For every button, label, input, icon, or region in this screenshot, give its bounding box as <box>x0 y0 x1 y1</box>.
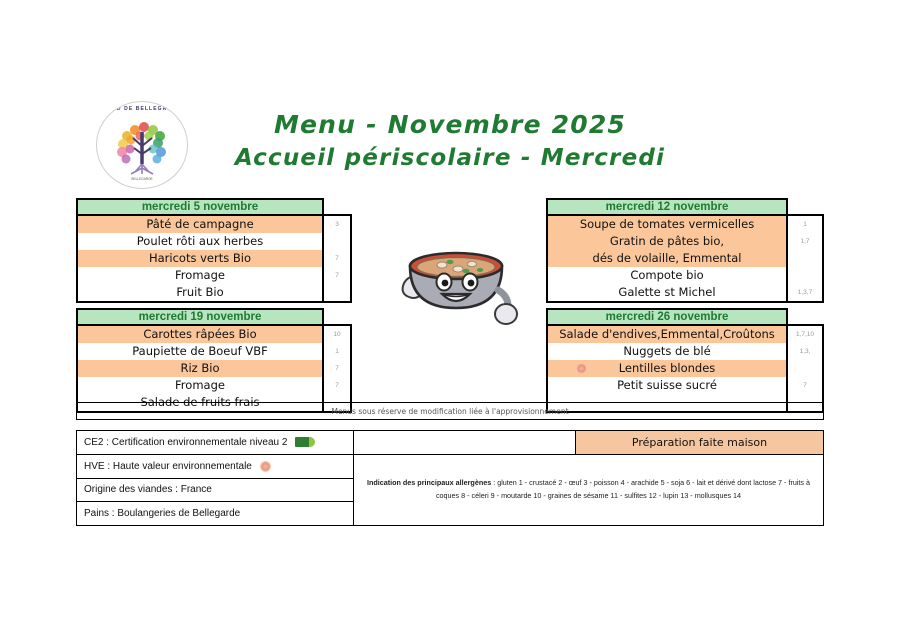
legend-row-hve: HVE : Haute valeur environnementale <box>77 455 353 479</box>
dish-row: Nuggets de blé <box>548 343 786 360</box>
logo-arc-text: DIEID DE BELLEGARDE <box>97 106 187 112</box>
dish-name: Soupe de tomates vermicelles <box>580 217 754 231</box>
allergen-value <box>324 233 350 250</box>
dish-row: Fromage <box>78 377 322 394</box>
allergen-value: 1,7 <box>788 233 822 250</box>
menu-table-1: mercredi 5 novembrePâté de campagnePoule… <box>76 198 352 303</box>
allergen-value <box>788 360 822 377</box>
homemade-badge: Préparation faite maison <box>576 431 823 454</box>
dish-name: Paupiette de Boeuf VBF <box>132 344 267 358</box>
allergen-value: 7 <box>788 377 822 394</box>
dish-row: Compote bio <box>548 267 786 284</box>
dish-name: Compote bio <box>630 268 703 282</box>
dish-row: dés de volaille, Emmental <box>548 250 786 267</box>
dish-row: Galette st Michel <box>548 284 786 301</box>
allergen-column: 1,7,101,3,7 <box>788 324 824 413</box>
allergen-value <box>788 250 822 267</box>
allergen-text: : gluten 1 - crustacé 2 - œuf 3 - poisso… <box>436 478 810 500</box>
menu-table-3: mercredi 19 novembreCarottes râpées BioP… <box>76 308 352 413</box>
allergen-value: 7 <box>324 360 350 377</box>
homemade-label: Préparation faite maison <box>632 436 767 449</box>
dish-row: Carottes râpées Bio <box>78 326 322 343</box>
dish-name: Nuggets de blé <box>623 344 710 358</box>
hve-certification-icon <box>576 363 587 374</box>
legend-blank-cell <box>354 431 576 454</box>
legend-right-column: Préparation faite maison Indication des … <box>354 431 823 525</box>
logo-sub-text: BELLEGARDE <box>97 177 187 181</box>
dish-row: Salade d'endives,Emmental,Croûtons <box>548 326 786 343</box>
dish-row: Gratin de pâtes bio, <box>548 233 786 250</box>
hve-certification-icon <box>260 461 271 472</box>
dish-name: Fromage <box>175 268 225 282</box>
menu-page: DIEID DE BELLEGARDE <box>0 0 900 636</box>
dish-name: Haricots verts Bio <box>149 251 251 265</box>
legend-ce2-text: CE2 : Certification environnementale niv… <box>84 437 287 448</box>
school-logo: DIEID DE BELLEGARDE <box>96 101 188 189</box>
menu-day-header: mercredi 5 novembre <box>78 200 322 216</box>
dish-name: Galette st Michel <box>618 285 715 299</box>
dish-name: dés de volaille, Emmental <box>593 251 742 265</box>
legend-row-ce2: CE2 : Certification environnementale niv… <box>77 431 353 455</box>
allergen-value: 10 <box>324 326 350 343</box>
soup-bowl-mascot-icon <box>392 214 520 336</box>
disclaimer-strip: Menus sous réserve de modification liée … <box>76 402 824 420</box>
allergen-value: 3 <box>324 216 350 233</box>
allergen-value <box>788 267 822 284</box>
legend-meat-origin-text: Origine des viandes : France <box>84 484 212 495</box>
allergen-value: 1,7,10 <box>788 326 822 343</box>
dish-row: Petit suisse sucré <box>548 377 786 394</box>
legend-bread-text: Pains : Boulangeries de Bellegarde <box>84 508 240 519</box>
dish-row: Soupe de tomates vermicelles <box>548 216 786 233</box>
menu-main-column: mercredi 19 novembreCarottes râpées BioP… <box>76 308 324 413</box>
dish-name: Carottes râpées Bio <box>143 327 256 341</box>
menu-table-4: mercredi 26 novembreSalade d'endives,Emm… <box>546 308 824 413</box>
menu-day-header: mercredi 26 novembre <box>548 310 786 326</box>
dish-name: Lentilles blondes <box>619 361 716 375</box>
dish-list: Pâté de campagnePoulet rôti aux herbesHa… <box>78 216 322 301</box>
logo-circle: DIEID DE BELLEGARDE <box>96 101 188 189</box>
allergen-value: 1 <box>324 343 350 360</box>
dish-name: Pâté de campagne <box>146 217 253 231</box>
title-line-2: Accueil périscolaire - Mercredi <box>200 142 700 174</box>
menu-main-column: mercredi 5 novembrePâté de campagnePoule… <box>76 198 324 303</box>
menu-main-column: mercredi 26 novembreSalade d'endives,Emm… <box>546 308 788 413</box>
tree-icon <box>97 102 188 189</box>
menu-main-column: mercredi 12 novembreSoupe de tomates ver… <box>546 198 788 303</box>
dish-row: Fromage <box>78 267 322 284</box>
page-title: Menu - Novembre 2025 Accueil périscolair… <box>200 108 700 174</box>
dish-row: Riz Bio <box>78 360 322 377</box>
disclaimer-text: Menus sous réserve de modification liée … <box>331 407 568 416</box>
allergen-value: 7 <box>324 377 350 394</box>
dish-row: Haricots verts Bio <box>78 250 322 267</box>
dish-row: Poulet rôti aux herbes <box>78 233 322 250</box>
allergen-value: 1,3,7 <box>788 284 822 301</box>
menu-day-header: mercredi 12 novembre <box>548 200 786 216</box>
allergen-info: Indication des principaux allergènes : g… <box>354 455 823 525</box>
dish-name: Salade d'endives,Emmental,Croûtons <box>559 327 775 341</box>
legend-row-bread: Pains : Boulangeries de Bellegarde <box>77 502 353 525</box>
dish-name: Poulet rôti aux herbes <box>137 234 263 248</box>
dish-name: Fromage <box>175 378 225 392</box>
dish-list: Salade d'endives,Emmental,CroûtonsNugget… <box>548 326 786 411</box>
dish-list: Soupe de tomates vermicellesGratin de pâ… <box>548 216 786 301</box>
allergen-title: Indication des principaux allergènes <box>367 478 491 487</box>
allergen-value: 7 <box>324 250 350 267</box>
legend-left-column: CE2 : Certification environnementale niv… <box>77 431 354 525</box>
dish-list: Carottes râpées BioPaupiette de Boeuf VB… <box>78 326 322 411</box>
allergen-value <box>324 284 350 301</box>
dish-name: Fruit Bio <box>176 285 223 299</box>
dish-name: Riz Bio <box>181 361 220 375</box>
legend-hve-text: HVE : Haute valeur environnementale <box>84 461 252 472</box>
menu-day-header: mercredi 19 novembre <box>78 310 322 326</box>
allergen-value: 1 <box>788 216 822 233</box>
legend-right-top: Préparation faite maison <box>354 431 823 455</box>
allergen-column: 11,71,3,7 <box>788 214 824 303</box>
dish-row: Lentilles blondes <box>548 360 786 377</box>
legend-row-meat-origin: Origine des viandes : France <box>77 479 353 503</box>
dish-row: Fruit Bio <box>78 284 322 301</box>
menu-table-2: mercredi 12 novembreSoupe de tomates ver… <box>546 198 824 303</box>
allergen-column: 10177 <box>324 324 352 413</box>
allergen-value: 1,3, <box>788 343 822 360</box>
dish-name: Gratin de pâtes bio, <box>610 234 724 248</box>
dish-name: Petit suisse sucré <box>617 378 717 392</box>
legend-table: CE2 : Certification environnementale niv… <box>76 430 824 526</box>
allergen-column: 377 <box>324 214 352 303</box>
dish-row: Pâté de campagne <box>78 216 322 233</box>
ce2-certification-icon <box>295 437 315 447</box>
dish-row: Paupiette de Boeuf VBF <box>78 343 322 360</box>
allergen-value: 7 <box>324 267 350 284</box>
title-line-1: Menu - Novembre 2025 <box>200 108 700 142</box>
